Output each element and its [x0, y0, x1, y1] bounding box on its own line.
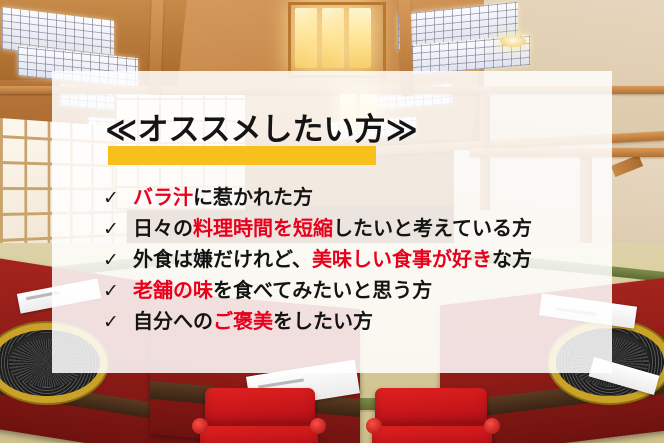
list-item: ✓ 外食は嫌だけれど、美味しい食事が好きな方 — [103, 244, 603, 275]
check-icon: ✓ — [103, 307, 133, 338]
list-item: ✓ バラ汁に惹かれた方 — [103, 182, 603, 213]
list-item-text: バラ汁に惹かれた方 — [133, 182, 313, 213]
plain-text: 自分への — [133, 309, 213, 333]
cushion-tie — [192, 418, 208, 434]
zabuton-cushion — [372, 424, 492, 443]
zabuton-cushion — [205, 388, 315, 428]
plain-text: をしたい方 — [273, 309, 373, 333]
list-item-text: 日々の料理時間を短縮したいと考えている方 — [133, 213, 532, 244]
list-item-text: 自分へのご褒美をしたい方 — [133, 306, 373, 337]
plain-text: したいと考えている方 — [333, 216, 532, 240]
list-item-text: 外食は嫌だけれど、美味しい食事が好きな方 — [133, 244, 532, 275]
zabuton-cushion — [200, 424, 318, 443]
lantern-frame — [288, 2, 386, 78]
headline-group: ≪オススメしたい方≫ — [105, 112, 418, 148]
plain-text: 日々の — [133, 216, 193, 240]
plain-text: な方 — [492, 247, 532, 271]
ceiling-downlight — [500, 36, 526, 47]
list-item: ✓ 自分へのご褒美をしたい方 — [103, 306, 603, 337]
cushion-tie — [310, 418, 326, 434]
list-item-text: 老舗の味を食べてみたいと思う方 — [133, 275, 432, 306]
emphasis-text: 料理時間を短縮 — [193, 216, 333, 240]
recommendation-list: ✓ バラ汁に惹かれた方 ✓ 日々の料理時間を短縮したいと考えている方 ✓ 外食は… — [103, 182, 603, 337]
check-icon: ✓ — [103, 245, 133, 276]
emphasis-text: 美味しい食事が好き — [312, 247, 492, 271]
plain-text: 外食は嫌だけれど、 — [133, 247, 312, 271]
check-icon: ✓ — [103, 214, 133, 245]
cushion-tie — [366, 418, 382, 434]
plain-text: に惹かれた方 — [193, 185, 313, 209]
plain-text: を食べてみたいと思う方 — [213, 278, 432, 302]
cushion-tie — [484, 418, 500, 434]
emphasis-text: 老舗の味 — [133, 278, 213, 302]
slide-canvas: ≪オススメしたい方≫ ✓ バラ汁に惹かれた方 ✓ 日々の料理時間を短縮したいと考… — [0, 0, 664, 443]
list-item: ✓ 老舗の味を食べてみたいと思う方 — [103, 275, 603, 306]
check-icon: ✓ — [103, 183, 133, 214]
page-title: ≪オススメしたい方≫ — [105, 112, 418, 148]
zabuton-cushion — [375, 388, 487, 428]
emphasis-text: ご褒美 — [213, 309, 273, 333]
emphasis-text: バラ汁 — [133, 185, 193, 209]
headline-highlight-bar — [108, 146, 376, 165]
cushion-seam — [378, 424, 488, 426]
list-item: ✓ 日々の料理時間を短縮したいと考えている方 — [103, 213, 603, 244]
check-icon: ✓ — [103, 276, 133, 307]
cushion-seam — [206, 424, 314, 426]
